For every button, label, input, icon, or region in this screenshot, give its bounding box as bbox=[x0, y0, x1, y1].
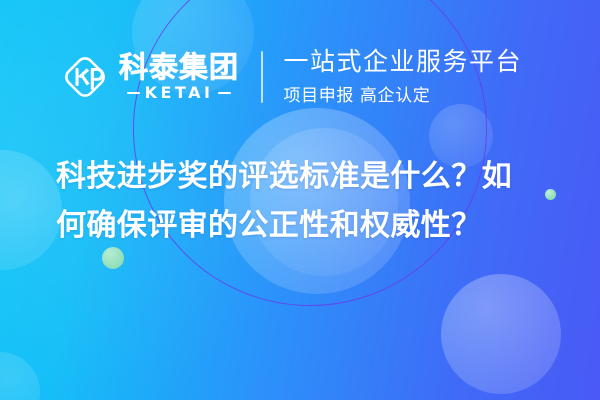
tagline-secondary: 项目申报 高企认定 bbox=[284, 81, 523, 106]
decorative-circle-bottom-right bbox=[441, 274, 561, 394]
kp-diamond-icon bbox=[60, 52, 110, 102]
logo-rule-left-icon bbox=[127, 92, 140, 95]
logo-company-name-en: KETAI bbox=[145, 85, 214, 101]
logo-wordmark: 科泰集团 KETAI bbox=[119, 53, 239, 101]
tagline-block: 一站式企业服务平台 项目申报 高企认定 bbox=[284, 48, 523, 106]
header-divider bbox=[261, 51, 263, 103]
logo-english-row: KETAI bbox=[127, 85, 232, 101]
headline-line-1: 科技进步奖的评选标准是什么？如 bbox=[56, 152, 556, 201]
tagline-primary: 一站式企业服务平台 bbox=[284, 48, 523, 76]
headline-line-2: 何确保评审的公正性和权威性？ bbox=[56, 201, 556, 250]
brand-logo[interactable]: 科泰集团 KETAI bbox=[60, 52, 239, 102]
banner-header: 科泰集团 KETAI 一站式企业服务平台 项目申报 高企认定 bbox=[0, 38, 600, 116]
logo-company-name-cn: 科泰集团 bbox=[119, 53, 239, 82]
promo-banner: 科泰集团 KETAI 一站式企业服务平台 项目申报 高企认定 科技进步奖的评选标… bbox=[0, 0, 600, 400]
logo-rule-right-icon bbox=[218, 92, 231, 95]
headline: 科技进步奖的评选标准是什么？如 何确保评审的公正性和权威性？ bbox=[56, 152, 556, 250]
